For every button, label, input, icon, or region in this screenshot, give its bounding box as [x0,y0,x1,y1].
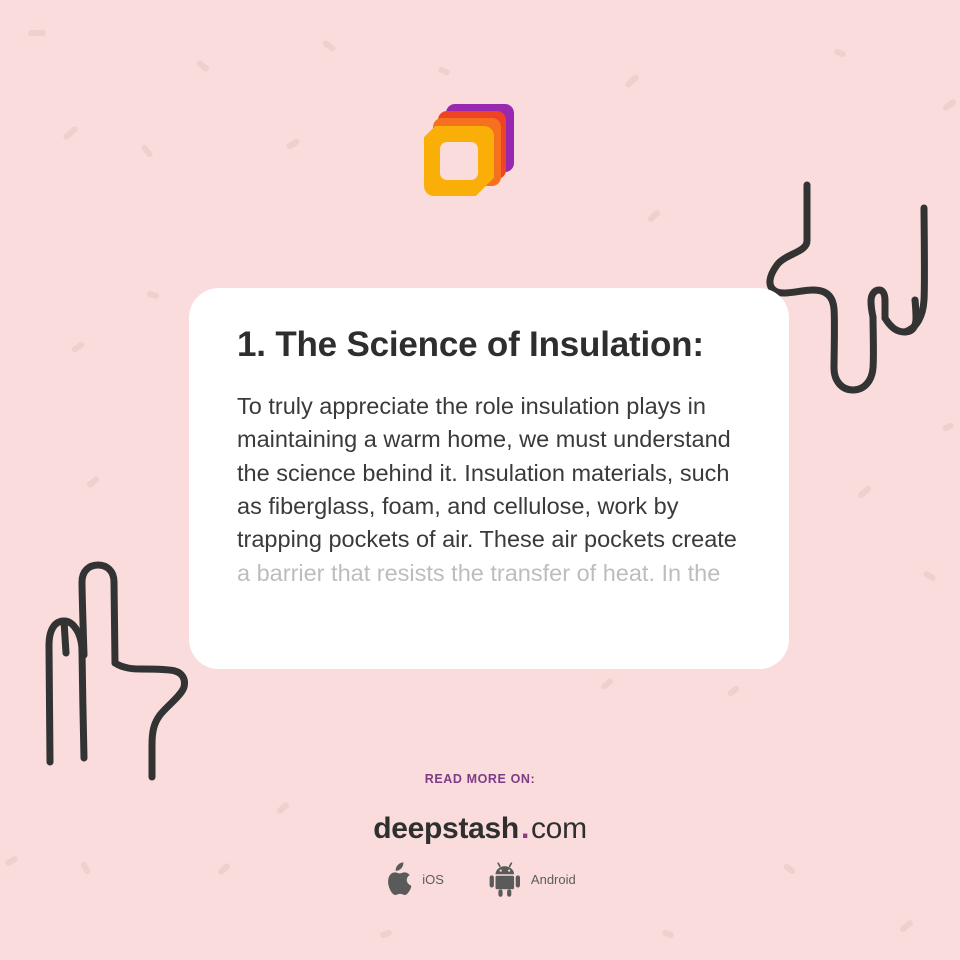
confetti-dash [661,929,674,939]
confetti-dash [941,422,954,433]
card-body-line: To truly appreciate the role insulation … [237,393,706,419]
text-fade-overlay [189,623,789,669]
deepstash-wordmark[interactable]: deepstash.com [0,812,960,846]
card-body-line: maintaining a warm home, we must underst… [237,426,731,452]
card-body-line: the science behind it. Insulation materi… [237,460,729,486]
confetti-dash [62,125,79,141]
confetti-dash [942,98,958,112]
confetti-dash [28,30,46,36]
card-body-line: a barrier that resists the transfer of h… [237,560,720,586]
confetti-dash [196,59,211,72]
deepstash-logo [424,100,524,202]
confetti-dash [146,291,159,300]
card-body-text: To truly appreciate the role insulation … [237,390,741,590]
app-store-badges: iOS Android [0,862,960,897]
android-store-badge[interactable]: Android [488,862,576,897]
idea-card[interactable]: 1. The Science of Insulation: To truly a… [189,288,789,669]
wordmark-tld: com [531,812,587,845]
confetti-dash [322,39,337,52]
confetti-dash [833,48,846,58]
android-icon [488,862,522,897]
confetti-dash [600,677,615,691]
confetti-dash [899,919,914,933]
confetti-dash [140,144,154,159]
wordmark-name: deepstash [373,812,519,845]
confetti-dash [379,929,392,939]
confetti-dash [857,485,872,499]
confetti-dash [285,138,300,150]
confetti-dash [624,73,640,88]
confetti-dash [727,685,741,698]
apple-icon [384,862,413,897]
ios-label: iOS [422,872,444,887]
confetti-dash [437,66,450,77]
confetti-dash [71,341,86,354]
logo-inner-cutout [440,142,478,180]
confetti-dash [86,475,101,489]
android-label: Android [531,872,576,887]
page-title: 1. The Science of Insulation: [237,320,741,370]
share-card-canvas: 1. The Science of Insulation: To truly a… [0,0,960,960]
wordmark-dot: . [519,812,531,845]
read-more-label: READ MORE ON: [0,772,960,786]
card-body-line: as fiberglass, foam, and cellulose, work… [237,493,679,519]
ios-store-badge[interactable]: iOS [384,862,444,897]
card-body-line: trapping pockets of air. These air pocke… [237,526,737,552]
confetti-dash [922,570,936,582]
confetti-dash [647,209,661,223]
